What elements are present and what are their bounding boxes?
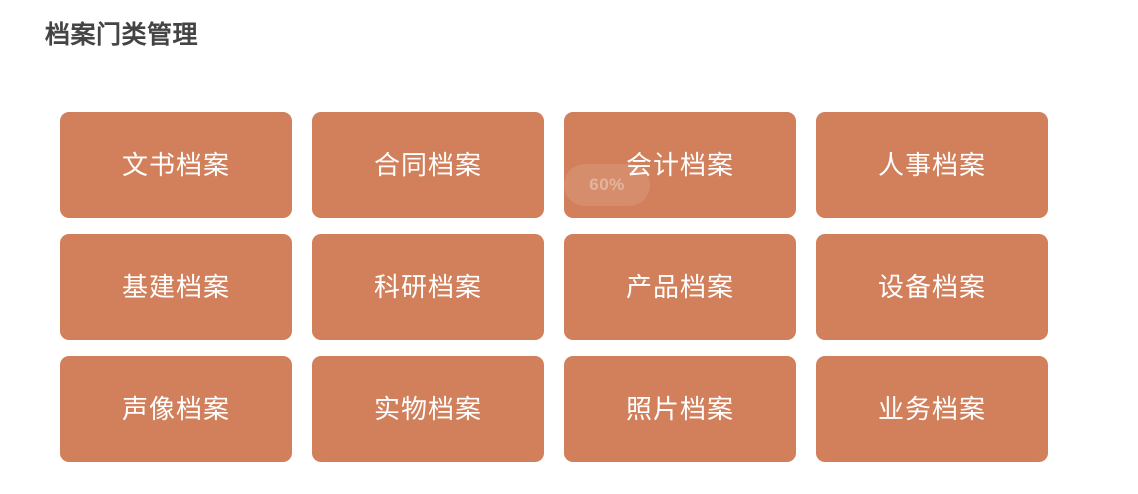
page-title: 档案门类管理: [45, 18, 198, 52]
category-button-label: 科研档案: [374, 274, 482, 300]
category-button-renshi[interactable]: 人事档案: [816, 112, 1048, 218]
category-button-label: 设备档案: [878, 274, 986, 300]
category-button-zhaopian[interactable]: 照片档案: [564, 356, 796, 462]
category-button-label: 人事档案: [878, 152, 986, 178]
category-button-label: 会计档案: [626, 152, 734, 178]
category-button-yewu[interactable]: 业务档案: [816, 356, 1048, 462]
category-button-grid: 文书档案 合同档案 会计档案 60% 人事档案 基建档案 科研档案 产品档案 设…: [60, 112, 1052, 462]
category-button-shengxiang[interactable]: 声像档案: [60, 356, 292, 462]
category-button-jijian[interactable]: 基建档案: [60, 234, 292, 340]
category-button-kuaiji[interactable]: 会计档案 60%: [564, 112, 796, 218]
category-button-label: 产品档案: [626, 274, 734, 300]
category-button-label: 照片档案: [626, 396, 734, 422]
category-button-shiwu[interactable]: 实物档案: [312, 356, 544, 462]
category-button-label: 实物档案: [374, 396, 482, 422]
category-button-wenshu[interactable]: 文书档案: [60, 112, 292, 218]
category-button-shebei[interactable]: 设备档案: [816, 234, 1048, 340]
category-button-label: 合同档案: [374, 152, 482, 178]
category-button-chanpin[interactable]: 产品档案: [564, 234, 796, 340]
archive-category-page: 档案门类管理 文书档案 合同档案 会计档案 60% 人事档案 基建档案 科研档案…: [0, 0, 1138, 494]
category-button-label: 声像档案: [122, 396, 230, 422]
category-button-label: 文书档案: [122, 152, 230, 178]
category-button-hetong[interactable]: 合同档案: [312, 112, 544, 218]
category-button-label: 基建档案: [122, 274, 230, 300]
category-button-keyan[interactable]: 科研档案: [312, 234, 544, 340]
category-button-label: 业务档案: [878, 396, 986, 422]
